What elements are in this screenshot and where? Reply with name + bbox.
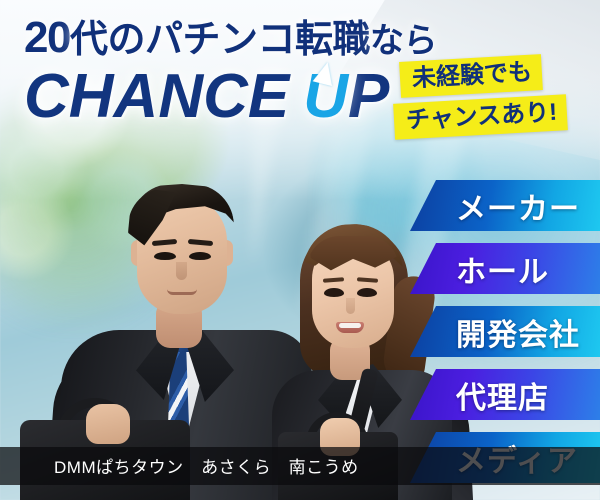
headline-chance-word: CHANCE: [24, 62, 289, 131]
female-eye-left: [324, 288, 344, 297]
headline-up-u: U: [303, 66, 348, 128]
caption-bar: DMMぱちタウン あさくら 南こうめ: [0, 447, 600, 485]
headline-age-number: 20: [24, 13, 70, 62]
highlight-badge: 未経験でも チャンスあり!: [394, 58, 594, 135]
headline-line-1-middle: 代のパチンコ転職: [70, 19, 370, 61]
category-label: メーカー: [456, 184, 580, 228]
category-label: 開発会社: [456, 310, 580, 354]
category-item-agency[interactable]: 代理店: [410, 369, 600, 420]
category-item-developer[interactable]: 開発会社: [410, 306, 600, 357]
headline-up-p: P: [348, 62, 389, 131]
female-eye-right: [357, 288, 377, 297]
headline-line-2: CHANCEUP: [24, 66, 437, 128]
female-teeth: [339, 323, 361, 328]
male-eye-right: [189, 252, 211, 260]
headline-line-1-tail: なら: [370, 22, 437, 60]
badge-line-2: チャンスあり!: [393, 94, 568, 140]
headline-block: 20代のパチンコ転職なら CHANCEUP: [24, 16, 437, 128]
badge-line-1: 未経験でも: [399, 54, 543, 98]
category-label: ホール: [456, 247, 549, 291]
male-eye-left: [154, 252, 176, 260]
male-mouth: [167, 289, 197, 295]
male-nose: [176, 262, 187, 280]
category-list: メーカー ホール 開発会社 代理店 メディア: [410, 180, 600, 483]
headline-line-1: 20代のパチンコ転職なら: [24, 16, 437, 60]
advertisement-banner[interactable]: 20代のパチンコ転職なら CHANCEUP 未経験でも チャンスあり! メーカー…: [0, 0, 600, 500]
male-hand: [86, 404, 130, 444]
female-nose: [346, 298, 355, 314]
category-item-hall[interactable]: ホール: [410, 243, 600, 294]
category-label: 代理店: [456, 373, 549, 417]
category-item-maker[interactable]: メーカー: [410, 180, 600, 231]
